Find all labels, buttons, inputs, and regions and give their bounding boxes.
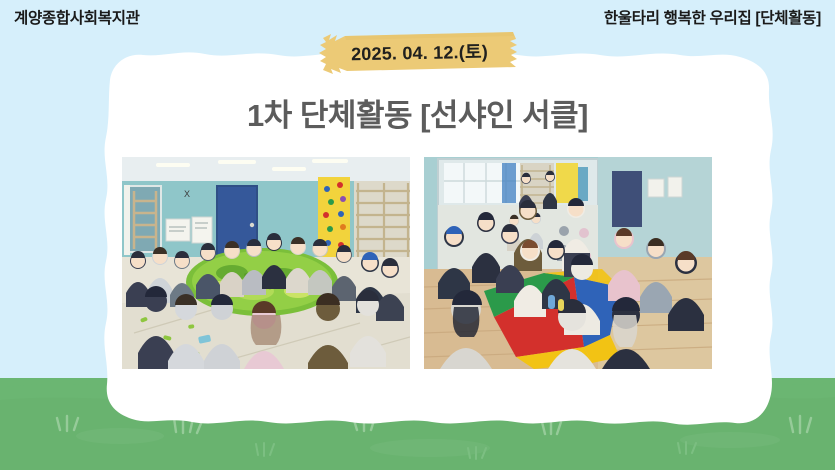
page-title: 1차 단체활동 [선샤인 서클] — [0, 90, 835, 135]
photo-right — [424, 157, 712, 369]
photo-right-illustration — [424, 157, 712, 369]
photo-gallery: X — [122, 157, 712, 369]
photo-left-illustration: X — [122, 157, 410, 369]
photo-left: X — [122, 157, 410, 369]
program-name: 한울타리 행복한 우리집 [단체활동] — [604, 6, 821, 28]
slide-root: 계양종합사회복지관 한울타리 행복한 우리집 [단체활동] 2025. 04. … — [0, 0, 835, 470]
organization-name: 계양종합사회복지관 — [14, 6, 140, 28]
svg-text:X: X — [184, 189, 190, 199]
date-badge: 2025. 04. 12.(토) — [317, 28, 522, 76]
date-text: 2025. 04. 12.(토) — [317, 26, 523, 78]
